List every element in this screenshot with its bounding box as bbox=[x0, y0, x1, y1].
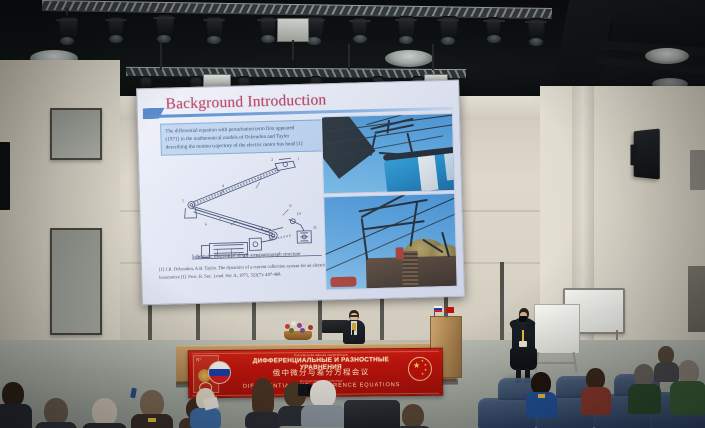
banner-logo-mark: N° bbox=[196, 358, 202, 363]
banner-title-chinese: 俄中微分与差分方程会议 bbox=[237, 366, 405, 379]
cable bbox=[432, 44, 434, 70]
flower bbox=[291, 321, 296, 326]
pantograph-schematic: 1 2 3 4 5 6 7 8 9 10 11 12 13 14 bbox=[159, 156, 327, 260]
china-star-small: ★ bbox=[421, 373, 424, 376]
audience-torso bbox=[35, 422, 77, 428]
projection-screen[interactable]: Background Introduction The differential… bbox=[136, 80, 465, 306]
spotlight bbox=[440, 16, 458, 42]
dome-light bbox=[645, 48, 689, 64]
cable bbox=[160, 42, 162, 70]
audience-lanyard bbox=[148, 418, 156, 422]
spotlight bbox=[108, 16, 124, 40]
slide-reference: [1] J.R. Ockendon, A.B. Tayler. The dyna… bbox=[159, 261, 335, 281]
audience-torso bbox=[670, 381, 705, 415]
audience-torso bbox=[301, 405, 345, 427]
auditorium-photo: Background Introduction The differential… bbox=[0, 0, 705, 428]
audience-torso bbox=[654, 362, 679, 382]
svg-text:2: 2 bbox=[271, 157, 273, 162]
svg-text:10: 10 bbox=[297, 211, 301, 216]
cable bbox=[348, 44, 350, 70]
audience-head bbox=[402, 404, 424, 428]
audience-torso bbox=[628, 384, 661, 414]
flower bbox=[308, 325, 313, 330]
china-desk-flag bbox=[446, 307, 454, 313]
audience-head bbox=[140, 390, 164, 417]
flower bbox=[289, 328, 294, 333]
seated-chairperson bbox=[340, 310, 368, 346]
svg-text:9: 9 bbox=[289, 203, 291, 208]
wall-mullion bbox=[500, 262, 504, 342]
flower bbox=[300, 328, 305, 333]
presentation-slide: Background Introduction The differential… bbox=[137, 81, 464, 305]
attendee-badge bbox=[519, 341, 527, 347]
attendee-skirt bbox=[510, 348, 537, 370]
svg-text:6: 6 bbox=[205, 222, 207, 227]
wall-mounted-speaker bbox=[634, 129, 660, 180]
slide-photo-pantograph-locomotive bbox=[323, 193, 457, 291]
camera-phone bbox=[519, 316, 527, 322]
flipchart-crossbar bbox=[538, 362, 576, 364]
svg-text:7: 7 bbox=[219, 217, 221, 222]
spotlight bbox=[59, 16, 78, 42]
russia-desk-flag bbox=[434, 306, 442, 312]
spotlight bbox=[206, 16, 223, 41]
audience-head bbox=[252, 378, 274, 416]
audience-torso bbox=[82, 423, 127, 428]
svg-text:3: 3 bbox=[259, 176, 261, 181]
svg-text:4: 4 bbox=[222, 183, 225, 188]
table-microphone bbox=[352, 330, 354, 340]
china-star-small: ★ bbox=[424, 364, 427, 367]
audience-head bbox=[44, 398, 68, 425]
svg-text:8: 8 bbox=[261, 226, 263, 231]
right-wall-panel bbox=[690, 150, 705, 190]
audience-torso bbox=[581, 387, 611, 415]
audience-seat-back bbox=[344, 400, 400, 428]
audience-lanyard bbox=[538, 394, 545, 398]
china-star-big: ★ bbox=[413, 362, 420, 370]
ceiling-vent-panel bbox=[277, 18, 309, 42]
acoustic-wall-panel bbox=[50, 108, 102, 160]
flower-arrangement bbox=[282, 318, 314, 340]
audience-torso bbox=[190, 408, 221, 428]
svg-text:11: 11 bbox=[313, 225, 317, 230]
flower bbox=[303, 321, 308, 326]
side-doorway bbox=[688, 266, 705, 332]
chairperson-glasses bbox=[350, 315, 358, 317]
china-flag-emblem: ★ ★ ★ ★ ★ bbox=[408, 357, 432, 381]
spotlight bbox=[352, 17, 367, 40]
spotlight bbox=[398, 16, 415, 41]
vent-hanger bbox=[292, 40, 294, 60]
china-star-small: ★ bbox=[424, 369, 427, 372]
spotlight bbox=[260, 16, 276, 40]
attendee-photographing bbox=[505, 304, 541, 382]
spotlight bbox=[528, 18, 545, 43]
spotlight bbox=[156, 14, 174, 40]
acoustic-wall-panel bbox=[50, 228, 102, 335]
spotlight bbox=[486, 17, 501, 40]
flower-basket bbox=[284, 331, 312, 340]
audience-torso bbox=[245, 412, 281, 428]
audience-torso bbox=[0, 404, 32, 428]
audience-head bbox=[92, 398, 117, 426]
slide-textbox: The differential equation with perturbat… bbox=[160, 119, 331, 156]
dome-light bbox=[385, 50, 433, 67]
russia-flag-emblem bbox=[208, 361, 231, 384]
svg-text:5: 5 bbox=[182, 198, 184, 203]
left-wall-speaker bbox=[0, 142, 10, 210]
svg-text:1: 1 bbox=[297, 156, 299, 161]
audience-head bbox=[310, 380, 336, 408]
slide-photo-pantograph-train bbox=[321, 113, 455, 195]
